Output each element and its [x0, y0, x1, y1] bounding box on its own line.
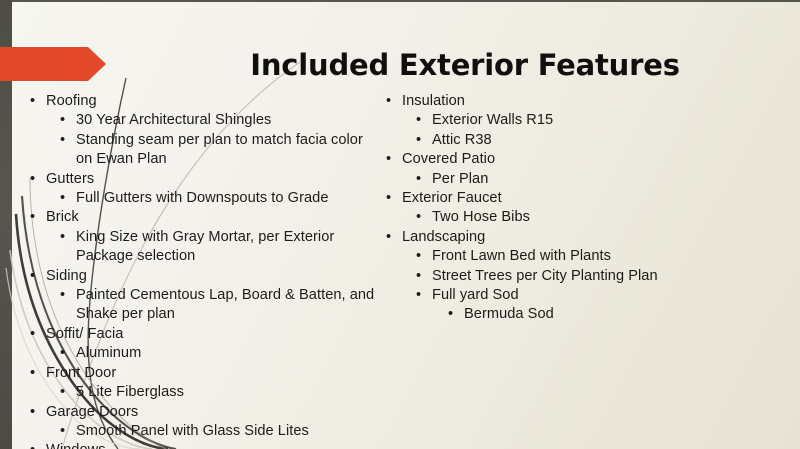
bullet-item-label: Bermuda Sod: [464, 305, 784, 324]
bullet-item-label: Exterior Faucet: [402, 189, 784, 208]
bullet-item: •Per Plan: [416, 170, 784, 189]
bullet-item: •Garage Doors: [30, 403, 378, 422]
bullet-item-label: Smooth Panel with Glass Side Lites: [76, 422, 378, 441]
bullet-marker-icon: •: [416, 208, 432, 227]
bullet-item: •Street Trees per City Planting Plan: [416, 267, 784, 286]
bullet-item-label: Roofing: [46, 92, 378, 111]
bullet-item-label: Aluminum: [76, 344, 378, 363]
bullet-item-label: Gutters: [46, 170, 378, 189]
bullet-marker-icon: •: [386, 228, 402, 247]
bullet-marker-icon: •: [30, 267, 46, 286]
bullet-marker-icon: •: [416, 247, 432, 266]
bullet-item-label: Insulation: [402, 92, 784, 111]
bullet-item: •Brick: [30, 208, 378, 227]
bullet-marker-icon: •: [60, 422, 76, 441]
bullet-item: •Smooth Panel with Glass Side Lites: [60, 422, 378, 441]
bullet-marker-icon: •: [386, 92, 402, 111]
bullet-item: •Full Gutters with Downspouts to Grade: [60, 189, 378, 208]
bullet-marker-icon: •: [30, 170, 46, 189]
bullet-column-right: •Insulation•Exterior Walls R15•Attic R38…: [380, 92, 784, 325]
bullet-marker-icon: •: [30, 325, 46, 344]
bullet-marker-icon: •: [30, 92, 46, 111]
bullet-item: •Landscaping: [386, 228, 784, 247]
bullet-marker-icon: •: [416, 131, 432, 150]
bullet-item: •Soffit/ Facia: [30, 325, 378, 344]
bullet-item-label: Per Plan: [432, 170, 784, 189]
bullet-item-label: Soffit/ Facia: [46, 325, 378, 344]
bullet-item-label: Standing seam per plan to match facia co…: [76, 131, 378, 170]
bullet-item: •Two Hose Bibs: [416, 208, 784, 227]
page-title: Included Exterior Features: [150, 48, 780, 82]
bullet-item-label: Full Gutters with Downspouts to Grade: [76, 189, 378, 208]
bullet-item-label: Exterior Walls R15: [432, 111, 784, 130]
bullet-column-left: •Roofing•30 Year Architectural Shingles•…: [30, 92, 378, 449]
presentation-slide: Included Exterior Features •Roofing•30 Y…: [0, 0, 800, 449]
bullet-marker-icon: •: [60, 286, 76, 305]
bullet-marker-icon: •: [60, 383, 76, 402]
bullet-marker-icon: •: [60, 131, 76, 150]
bullet-marker-icon: •: [30, 441, 46, 449]
bullet-item: •Gutters: [30, 170, 378, 189]
bullet-item: •Insulation: [386, 92, 784, 111]
bullet-marker-icon: •: [30, 208, 46, 227]
bullet-item-label: 5 Lite Fiberglass: [76, 383, 378, 402]
bullet-marker-icon: •: [30, 364, 46, 383]
bullet-item: •Covered Patio: [386, 150, 784, 169]
bullet-item: •Front Lawn Bed with Plants: [416, 247, 784, 266]
bullet-item-label: Landscaping: [402, 228, 784, 247]
bullet-marker-icon: •: [386, 150, 402, 169]
bullet-marker-icon: •: [30, 403, 46, 422]
bullet-item-label: Covered Patio: [402, 150, 784, 169]
bullet-marker-icon: •: [416, 111, 432, 130]
bullet-marker-icon: •: [60, 189, 76, 208]
bullet-item: •Front Door: [30, 364, 378, 383]
bullet-marker-icon: •: [386, 189, 402, 208]
bullet-item-label: Windows: [46, 441, 378, 449]
bullet-item: •Painted Cementous Lap, Board & Batten, …: [60, 286, 378, 325]
bullet-marker-icon: •: [60, 111, 76, 130]
bullet-marker-icon: •: [60, 228, 76, 247]
bullet-marker-icon: •: [416, 267, 432, 286]
orange-arrow-banner: [0, 47, 106, 81]
bullet-item: •Exterior Faucet: [386, 189, 784, 208]
bullet-item-label: Brick: [46, 208, 378, 227]
bullet-marker-icon: •: [416, 286, 432, 305]
bullet-item: •5 Lite Fiberglass: [60, 383, 378, 402]
top-rule: [0, 0, 800, 2]
bullet-item-label: Painted Cementous Lap, Board & Batten, a…: [76, 286, 378, 325]
bullet-item: •Full yard Sod: [416, 286, 784, 305]
bullet-item-label: Front Door: [46, 364, 378, 383]
bullet-item-label: Attic R38: [432, 131, 784, 150]
bullet-item: •Windows: [30, 441, 378, 449]
bullet-item: •30 Year Architectural Shingles: [60, 111, 378, 130]
bullet-marker-icon: •: [60, 344, 76, 363]
bullet-item: •Standing seam per plan to match facia c…: [60, 131, 378, 170]
bullet-item-label: Front Lawn Bed with Plants: [432, 247, 784, 266]
bullet-item-label: 30 Year Architectural Shingles: [76, 111, 378, 130]
slide-body: •Roofing•30 Year Architectural Shingles•…: [0, 92, 800, 432]
bullet-item: •Aluminum: [60, 344, 378, 363]
bullet-item: •Siding: [30, 267, 378, 286]
bullet-item: •Bermuda Sod: [448, 305, 784, 324]
bullet-item: •King Size with Gray Mortar, per Exterio…: [60, 228, 378, 267]
bullet-item-label: Street Trees per City Planting Plan: [432, 267, 784, 286]
bullet-item-label: Garage Doors: [46, 403, 378, 422]
bullet-item-label: King Size with Gray Mortar, per Exterior…: [76, 228, 378, 267]
bullet-marker-icon: •: [448, 305, 464, 324]
bullet-item: •Attic R38: [416, 131, 784, 150]
bullet-item-label: Two Hose Bibs: [432, 208, 784, 227]
bullet-item: •Roofing: [30, 92, 378, 111]
bullet-item-label: Siding: [46, 267, 378, 286]
bullet-item: •Exterior Walls R15: [416, 111, 784, 130]
bullet-marker-icon: •: [416, 170, 432, 189]
bullet-item-label: Full yard Sod: [432, 286, 784, 305]
